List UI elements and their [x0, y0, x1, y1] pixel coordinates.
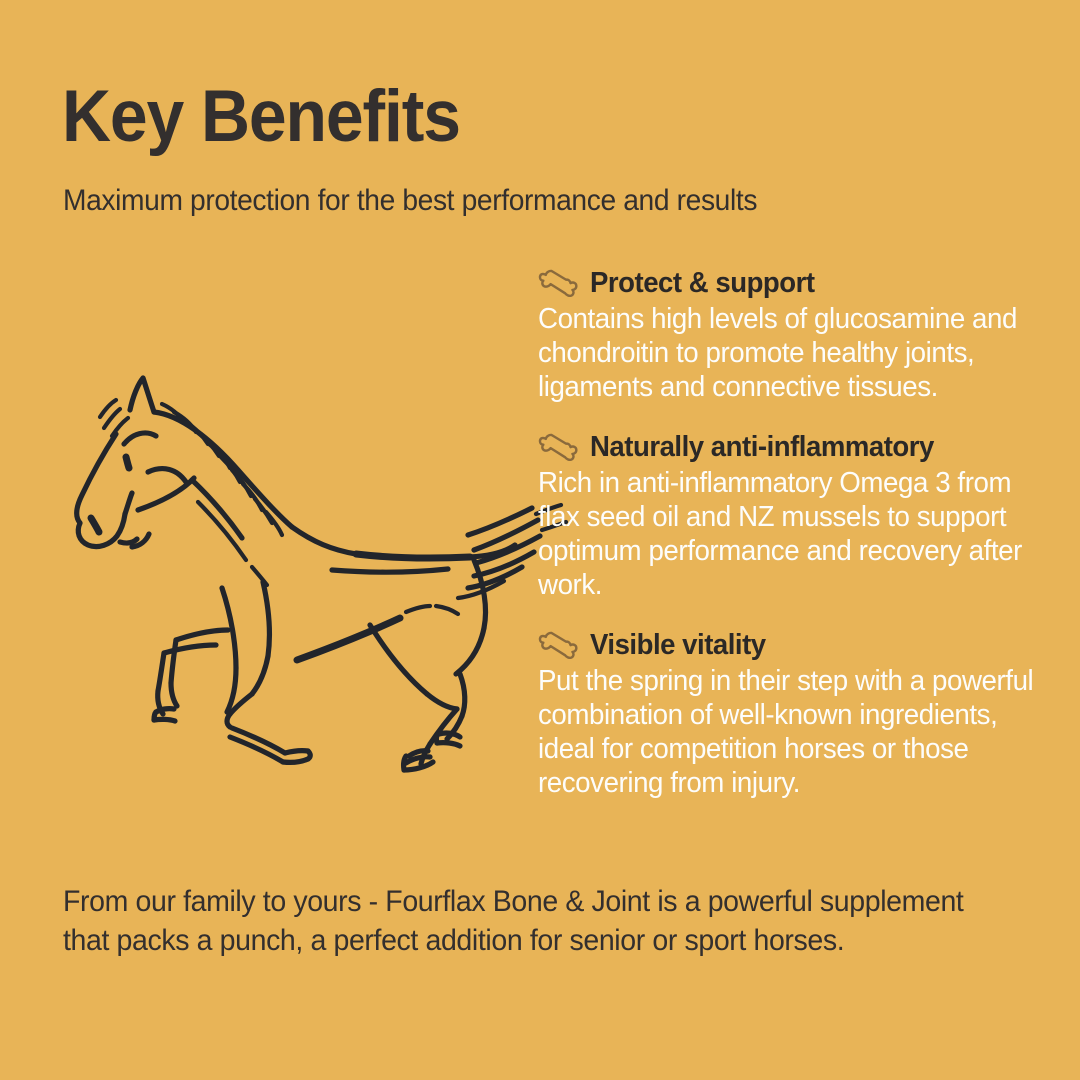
- benefit-item-visible-vitality: Visible vitality Put the spring in their…: [538, 628, 1058, 800]
- benefit-title: Protect & support: [590, 266, 815, 300]
- horse-illustration: [70, 360, 570, 780]
- bone-icon: [538, 269, 580, 297]
- benefits-list: Protect & support Contains high levels o…: [538, 266, 1058, 800]
- benefit-body: Rich in anti-inflammatory Omega 3 from f…: [538, 466, 1058, 602]
- page-title: Key Benefits: [62, 78, 460, 156]
- benefit-heading-row: Protect & support: [538, 266, 1058, 300]
- benefit-body: Put the spring in their step with a powe…: [538, 664, 1058, 800]
- bone-icon: [538, 631, 580, 659]
- page-subtitle: Maximum protection for the best performa…: [63, 183, 757, 219]
- product-benefits-card: Key Benefits Maximum protection for the …: [0, 0, 1080, 1080]
- benefit-item-naturally-anti-inflammatory: Naturally anti-inflammatory Rich in anti…: [538, 430, 1058, 602]
- benefit-heading-row: Naturally anti-inflammatory: [538, 430, 1058, 464]
- benefit-title: Naturally anti-inflammatory: [590, 430, 934, 464]
- benefit-body: Contains high levels of glucosamine and …: [538, 302, 1058, 404]
- benefit-heading-row: Visible vitality: [538, 628, 1058, 662]
- footer-paragraph: From our family to yours - Fourflax Bone…: [63, 882, 1004, 960]
- benefit-title: Visible vitality: [590, 628, 766, 662]
- benefit-item-protect-support: Protect & support Contains high levels o…: [538, 266, 1058, 404]
- horse-line-drawing-svg: [70, 360, 570, 780]
- bone-icon: [538, 433, 580, 461]
